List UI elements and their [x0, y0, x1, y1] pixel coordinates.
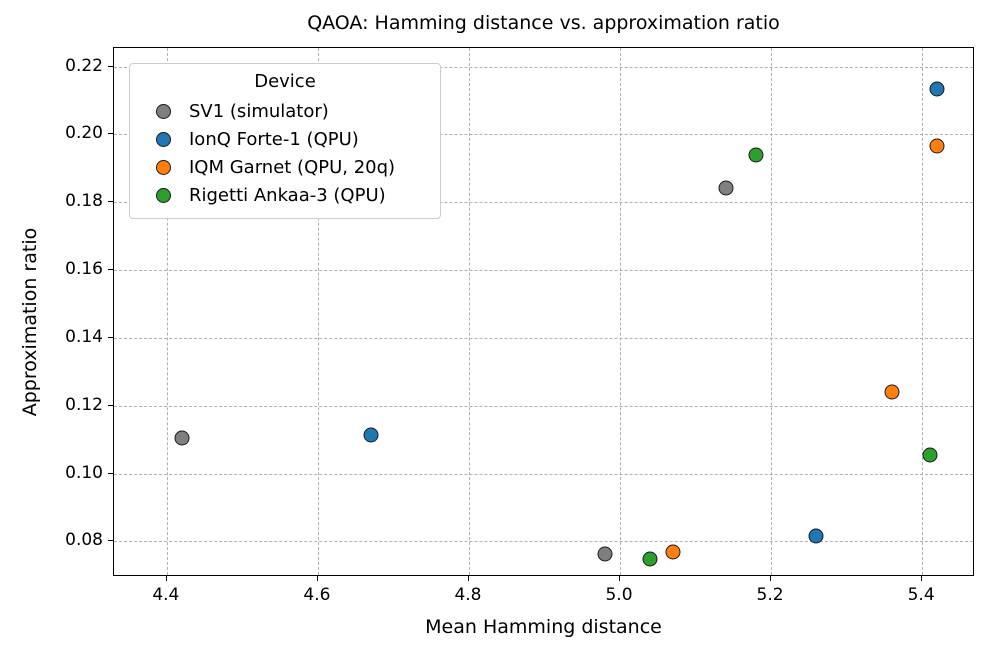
- y-tick-mark: [108, 66, 113, 67]
- x-tick-mark: [468, 576, 469, 581]
- gridline-vertical: [469, 48, 470, 575]
- legend-entry[interactable]: Rigetti Ankaa-3 (QPU): [140, 181, 430, 209]
- y-tick-mark: [108, 473, 113, 474]
- y-tick-mark: [108, 337, 113, 338]
- y-tick-mark: [108, 405, 113, 406]
- data-point: [930, 82, 945, 97]
- data-point: [922, 447, 937, 462]
- y-tick-label: 0.08: [8, 530, 103, 550]
- y-tick-label: 0.22: [8, 56, 103, 76]
- gridline-horizontal: [114, 474, 973, 475]
- x-tick-label: 5.4: [908, 585, 935, 605]
- y-tick-mark: [108, 133, 113, 134]
- legend-entry-label: Rigetti Ankaa-3 (QPU): [189, 185, 386, 206]
- legend-marker-icon: [156, 132, 171, 147]
- legend-marker-icon: [156, 104, 171, 119]
- gridline-vertical: [620, 48, 621, 575]
- legend: Device SV1 (simulator)IonQ Forte-1 (QPU)…: [129, 63, 441, 219]
- x-tick-label: 5.2: [757, 585, 784, 605]
- legend-entry[interactable]: SV1 (simulator): [140, 97, 430, 125]
- legend-entry[interactable]: IQM Garnet (QPU, 20q): [140, 153, 430, 181]
- x-tick-mark: [317, 576, 318, 581]
- y-tick-label: 0.20: [8, 123, 103, 143]
- data-point: [748, 147, 763, 162]
- legend-entry-label: IonQ Forte-1 (QPU): [189, 129, 359, 150]
- data-point: [884, 384, 899, 399]
- data-point: [809, 529, 824, 544]
- chart-title: QAOA: Hamming distance vs. approximation…: [113, 12, 974, 34]
- x-tick-label: 5.0: [605, 585, 632, 605]
- gridline-vertical: [922, 48, 923, 575]
- x-tick-mark: [921, 576, 922, 581]
- legend-entry[interactable]: IonQ Forte-1 (QPU): [140, 125, 430, 153]
- y-tick-mark: [108, 201, 113, 202]
- legend-marker-icon: [156, 160, 171, 175]
- x-axis-label: Mean Hamming distance: [113, 616, 974, 638]
- data-point: [174, 431, 189, 446]
- gridline-horizontal: [114, 270, 973, 271]
- chart-figure: QAOA: Hamming distance vs. approximation…: [0, 0, 996, 664]
- x-tick-mark: [619, 576, 620, 581]
- gridline-horizontal: [114, 541, 973, 542]
- y-tick-mark: [108, 540, 113, 541]
- legend-entry-label: IQM Garnet (QPU, 20q): [189, 157, 395, 178]
- x-tick-mark: [770, 576, 771, 581]
- data-point: [363, 427, 378, 442]
- y-tick-mark: [108, 269, 113, 270]
- gridline-vertical: [771, 48, 772, 575]
- gridline-horizontal: [114, 406, 973, 407]
- data-point: [643, 552, 658, 567]
- data-point: [597, 546, 612, 561]
- data-point: [718, 180, 733, 195]
- x-tick-label: 4.4: [152, 585, 179, 605]
- gridline-horizontal: [114, 338, 973, 339]
- x-tick-mark: [166, 576, 167, 581]
- legend-entries: SV1 (simulator)IonQ Forte-1 (QPU)IQM Gar…: [140, 97, 430, 209]
- y-axis-label: Approximation ratio: [19, 157, 41, 487]
- legend-entry-label: SV1 (simulator): [189, 101, 329, 122]
- legend-marker-icon: [156, 188, 171, 203]
- legend-title: Device: [140, 71, 430, 92]
- data-point: [665, 544, 680, 559]
- x-tick-label: 4.6: [303, 585, 330, 605]
- x-tick-label: 4.8: [454, 585, 481, 605]
- data-point: [930, 139, 945, 154]
